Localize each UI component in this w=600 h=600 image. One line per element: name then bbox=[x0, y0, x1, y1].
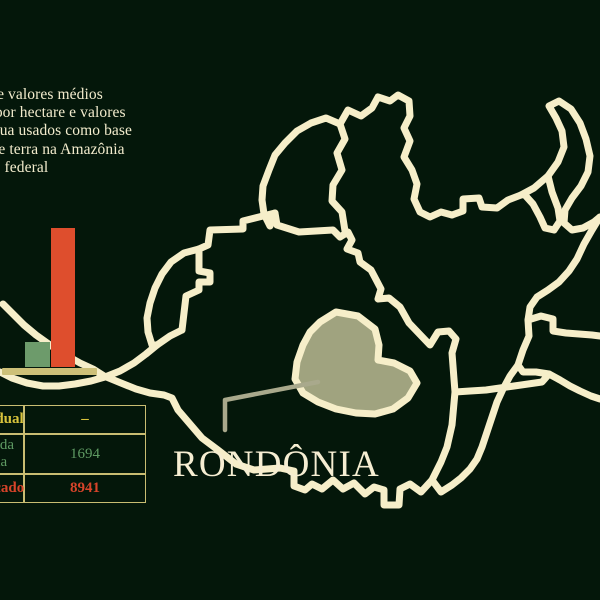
table-cell-label: Mercado bbox=[0, 474, 24, 503]
state-border-roraima bbox=[332, 95, 452, 231]
map-leader-line bbox=[225, 382, 318, 430]
state-border-matogrosso-north bbox=[455, 374, 549, 392]
values-table: Estadual – Uso da água 1694 Mercado 8941 bbox=[0, 405, 146, 503]
title-line-4: para venda de terra na Amazônia bbox=[0, 141, 173, 159]
title-line-5: pelo governo federal bbox=[0, 159, 173, 177]
highlighted-state-rondonia bbox=[295, 312, 417, 414]
title-line-2: de mercado por hectare e valores bbox=[0, 104, 173, 122]
state-border-amapa-link bbox=[521, 176, 560, 230]
state-border-east-interior bbox=[528, 316, 600, 336]
title-line-3: de Uso da água usados como base bbox=[0, 122, 173, 140]
title-line-1: Relação entre valores médios bbox=[0, 86, 173, 104]
table-cell-label: Estadual bbox=[0, 405, 24, 434]
chart-baseline bbox=[2, 368, 97, 375]
table-cell-value: 1694 bbox=[24, 434, 146, 474]
table-row: Estadual – bbox=[0, 405, 146, 434]
table-cell-value: 8941 bbox=[24, 474, 146, 503]
table-row: Mercado 8941 bbox=[0, 474, 146, 503]
map-label-rondonia: RONDÔNIA bbox=[173, 443, 380, 486]
table-cell-label: Uso da água bbox=[0, 434, 24, 474]
state-border-para-south bbox=[432, 365, 518, 492]
bar-mercado bbox=[51, 228, 75, 367]
state-border-north-west bbox=[262, 118, 340, 226]
infographic-canvas: Relação entre valores médios de mercado … bbox=[0, 0, 600, 600]
bar-uso-da-agua bbox=[25, 342, 50, 367]
table-row: Uso da água 1694 bbox=[0, 434, 146, 474]
state-border-para-west bbox=[452, 101, 600, 230]
state-border-west-notch bbox=[147, 249, 199, 345]
chart-title: Relação entre valores médios de mercado … bbox=[0, 86, 173, 177]
state-border-para-east bbox=[518, 217, 600, 399]
table-cell-value: – bbox=[24, 405, 146, 434]
bar-chart bbox=[0, 215, 110, 380]
